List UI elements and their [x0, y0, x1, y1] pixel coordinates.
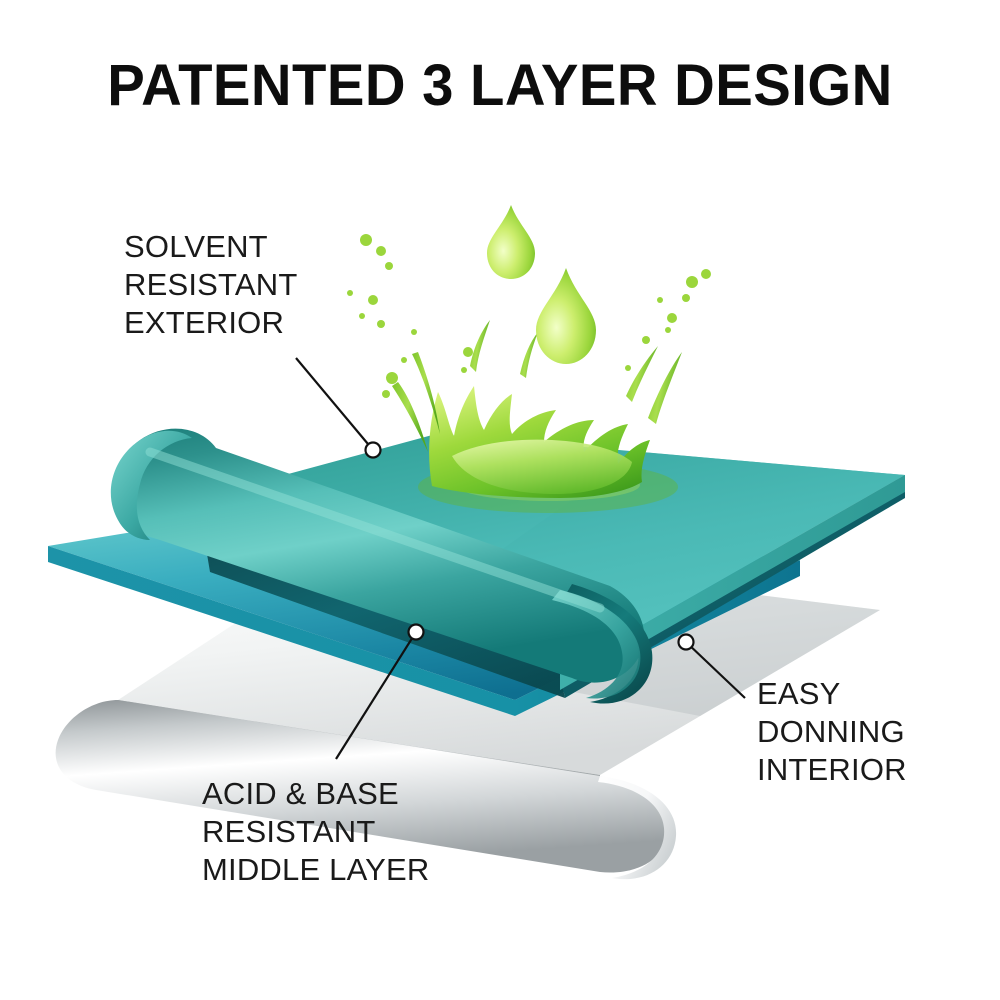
callout-label-easy-donning-interior: EASY DONNING INTERIOR — [757, 675, 907, 788]
callout-label-solvent-resistant-exterior: SOLVENT RESISTANT EXTERIOR — [124, 228, 297, 341]
callout-marker-easy — [679, 635, 694, 650]
callout-label-acid-base-resistant-middle-layer: ACID & BASE RESISTANT MIDDLE LAYER — [202, 775, 430, 888]
callout-marker-acid — [409, 625, 424, 640]
leader-line-solvent — [296, 358, 373, 450]
callout-marker-solvent — [366, 443, 381, 458]
droplet-small — [487, 205, 535, 279]
droplet-large — [536, 268, 596, 364]
page-title: PATENTED 3 LAYER DESIGN — [15, 52, 985, 119]
layer-design-infographic: PATENTED 3 LAYER DESIGN SOLVENT RESISTAN… — [0, 0, 1000, 1000]
three-layer-diagram — [0, 0, 1000, 1000]
